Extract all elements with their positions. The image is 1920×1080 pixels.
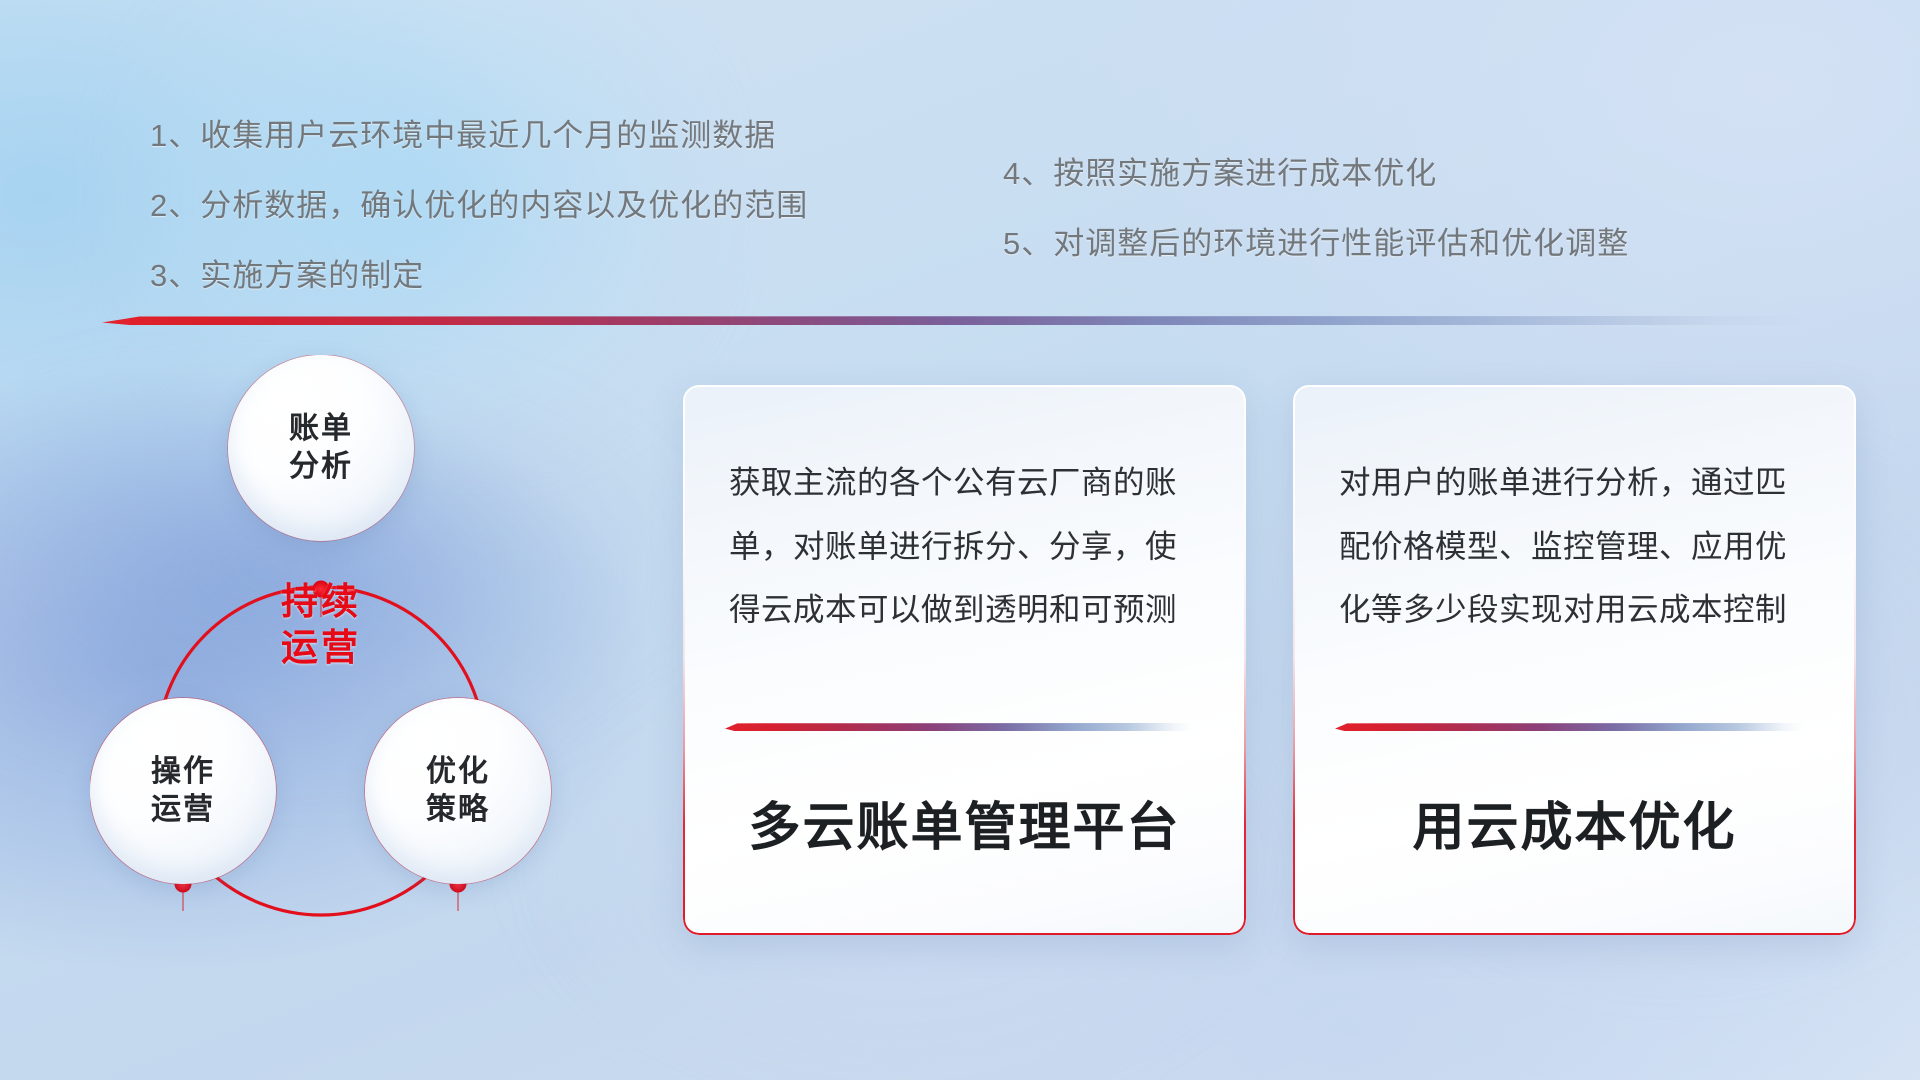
node-label-line2: 分析 — [289, 448, 353, 486]
node-label-line1: 操作 — [151, 753, 215, 791]
card-accent-rule — [1335, 723, 1803, 731]
node-label-line2: 策略 — [426, 791, 490, 829]
card-accent-rule — [725, 723, 1193, 731]
slide-canvas: 1、收集用户云环境中最近几个月的监测数据 2、分析数据，确认优化的内容以及优化的… — [0, 0, 1920, 1080]
step-item-5: 5、对调整后的环境进行性能评估和优化调整 — [1003, 228, 1629, 259]
card-title: 用云成本优化 — [1293, 785, 1856, 860]
node-label-line1: 优化 — [426, 753, 490, 791]
card-title: 多云账单管理平台 — [683, 785, 1246, 860]
divider-gradient-bar — [102, 316, 1802, 325]
step-item-1: 1、收集用户云环境中最近几个月的监测数据 — [150, 120, 808, 151]
continuous-operation-diagram: 账单 分析 操作 运营 优化 策略 持续 运营 — [90, 355, 670, 955]
center-label-line1: 持续 — [228, 579, 414, 625]
step-item-4: 4、按照实施方案进行成本优化 — [1003, 158, 1629, 189]
steps-right-column: 4、按照实施方案进行成本优化 5、对调整后的环境进行性能评估和优化调整 — [1003, 158, 1629, 298]
diagram-node-bill-analysis[interactable]: 账单 分析 — [228, 355, 414, 541]
node-label-line2: 运营 — [151, 791, 215, 829]
card-description: 对用户的账单进行分析，通过匹配价格模型、监控管理、应用优化等多少段实现对用云成本… — [1339, 451, 1816, 642]
step-item-2: 2、分析数据，确认优化的内容以及优化的范围 — [150, 190, 808, 221]
card-description: 获取主流的各个公有云厂商的账单，对账单进行拆分、分享，使得云成本可以做到透明和可… — [729, 451, 1206, 642]
section-divider — [102, 316, 1802, 325]
feature-card-multi-cloud-bill-platform[interactable]: 获取主流的各个公有云厂商的账单，对账单进行拆分、分享，使得云成本可以做到透明和可… — [683, 385, 1246, 935]
feature-card-cloud-cost-optimization[interactable]: 对用户的账单进行分析，通过匹配价格模型、监控管理、应用优化等多少段实现对用云成本… — [1293, 385, 1856, 935]
diagram-node-operation-ops[interactable]: 操作 运营 — [90, 698, 276, 884]
diagram-node-optimize-strategy[interactable]: 优化 策略 — [365, 698, 551, 884]
center-label-line2: 运营 — [228, 625, 414, 671]
card-accent-rule-bar — [725, 723, 1193, 731]
diagram-center-label: 持续 运营 — [228, 579, 414, 671]
step-item-3: 3、实施方案的制定 — [150, 260, 808, 291]
node-label-line1: 账单 — [289, 410, 353, 448]
card-accent-rule-bar — [1335, 723, 1803, 731]
steps-left-column: 1、收集用户云环境中最近几个月的监测数据 2、分析数据，确认优化的内容以及优化的… — [150, 120, 808, 330]
